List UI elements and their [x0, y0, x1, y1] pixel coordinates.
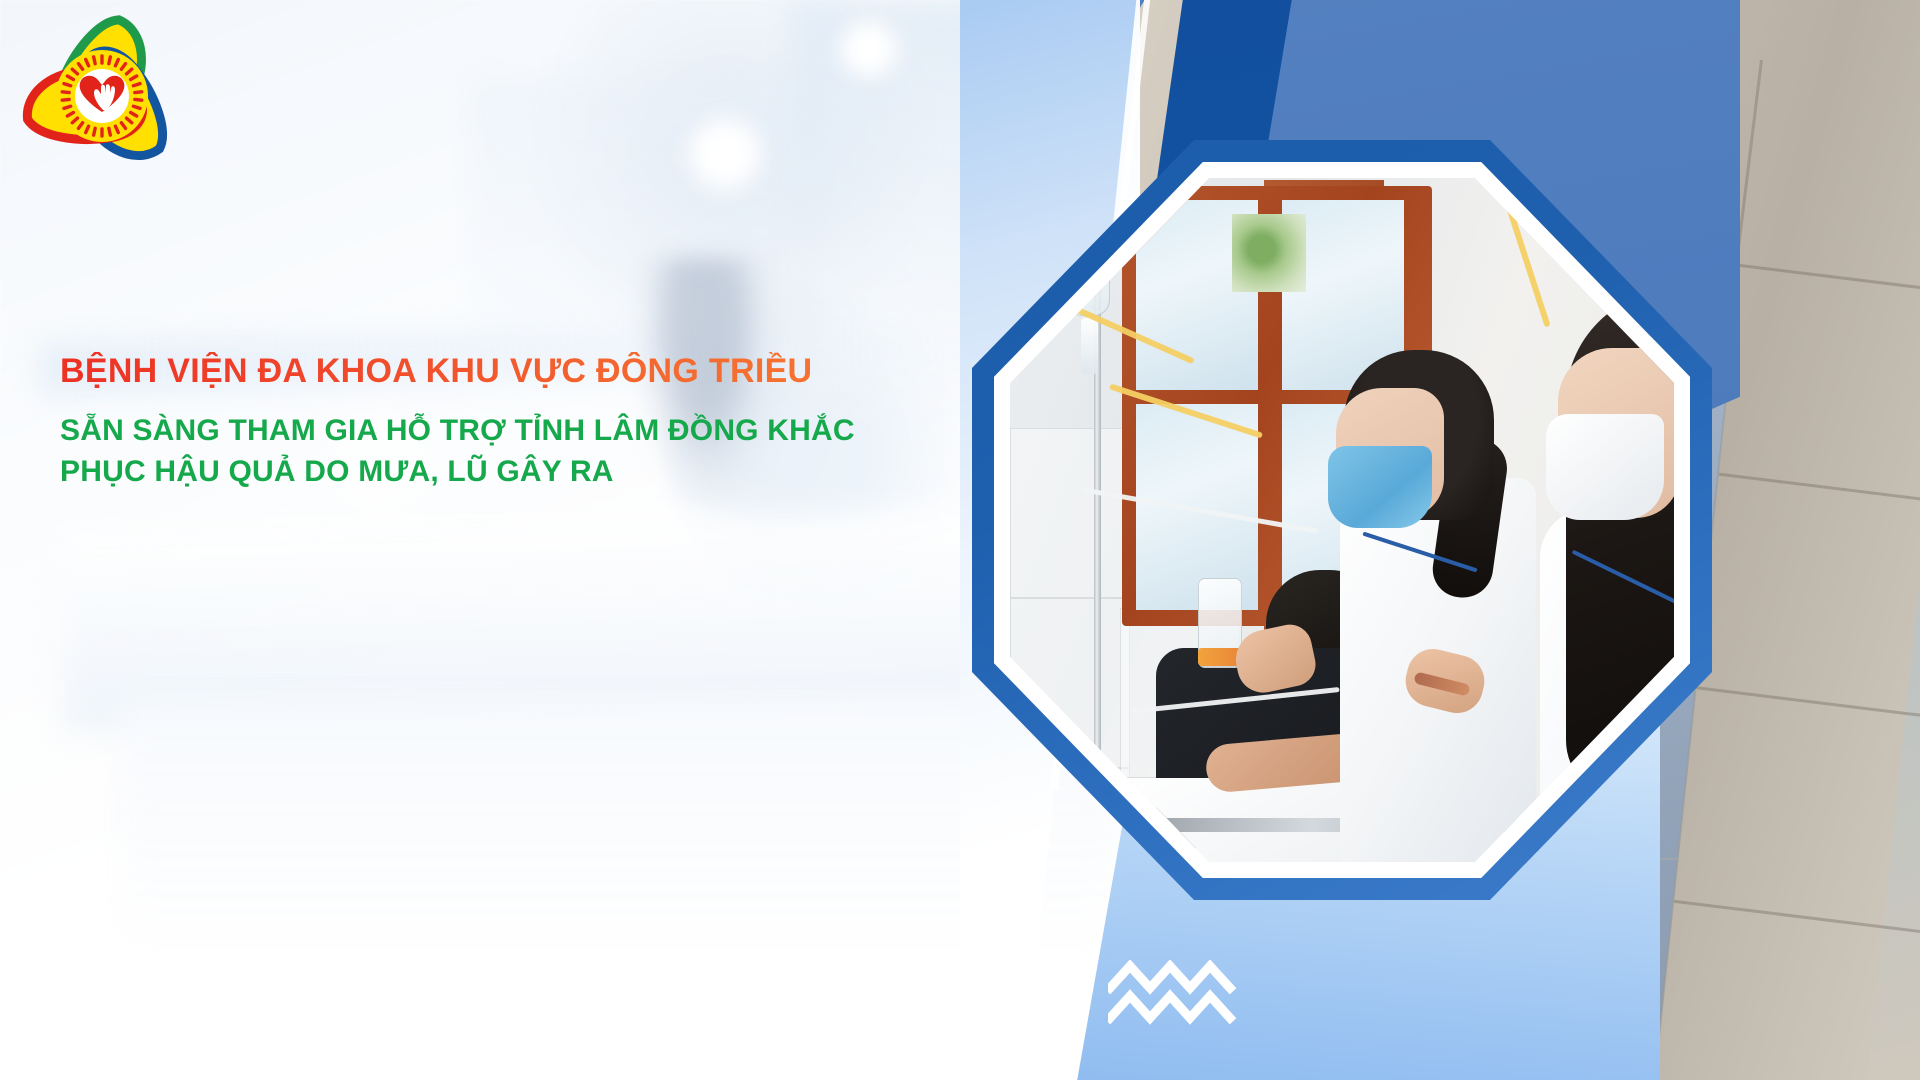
- iv-bag-label: [1068, 214, 1108, 224]
- ceiling-light-blur: [832, 16, 906, 82]
- water-wave-zigzag-icon: [1108, 960, 1248, 1028]
- iv-drip-chamber: [1081, 318, 1098, 374]
- banner-root: H: [0, 0, 1920, 1080]
- blue-surgical-mask: [1328, 446, 1432, 528]
- octagon-photo-frame: [972, 140, 1712, 900]
- banner-text-block: BỆNH VIỆN ĐA KHOA KHU VỰC ĐÔNG TRIỀU SẴN…: [60, 352, 960, 493]
- page-title: BỆNH VIỆN ĐA KHOA KHU VỰC ĐÔNG TRIỀU: [60, 352, 960, 390]
- hospital-logo-icon: [16, 10, 188, 182]
- window-foliage: [1232, 214, 1306, 292]
- white-surgical-mask: [1546, 414, 1664, 520]
- page-subtitle: SẴN SÀNG THAM GIA HỖ TRỢ TỈNH LÂM ĐỒNG K…: [60, 410, 930, 493]
- ceiling-light-blur: [680, 110, 770, 198]
